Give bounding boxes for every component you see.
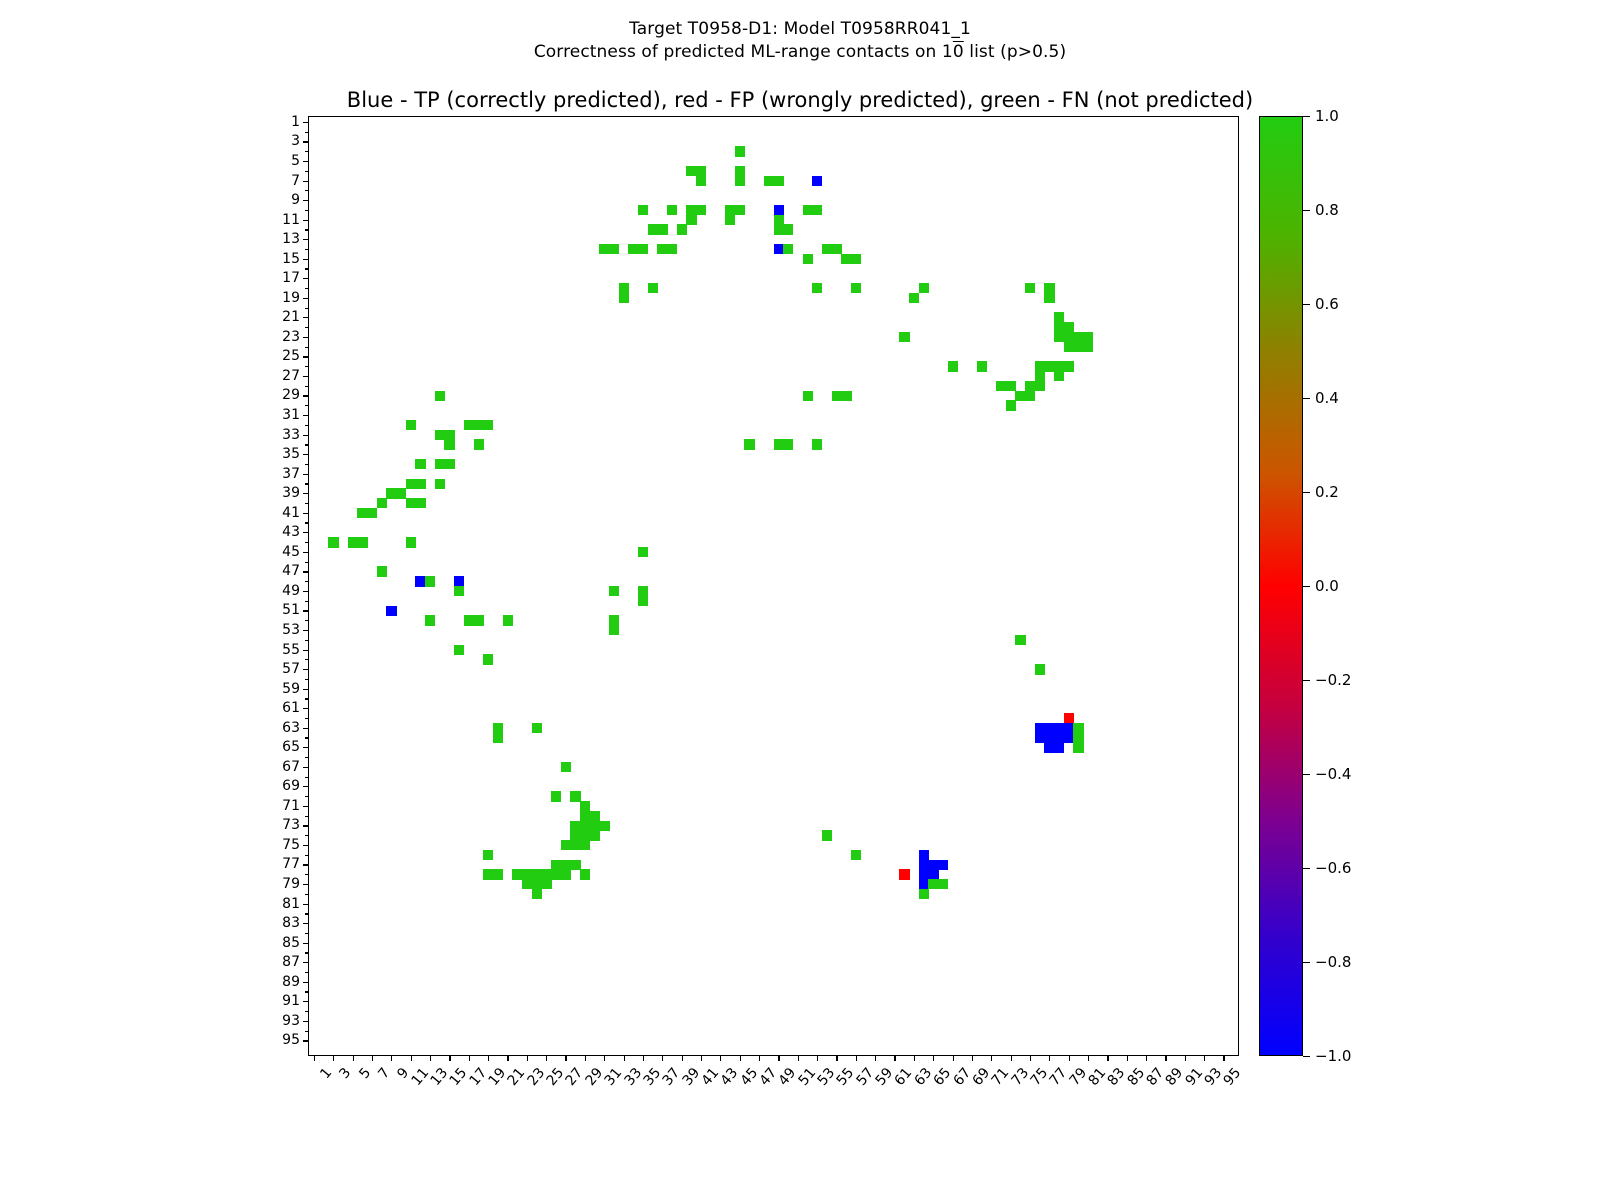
contact-cell — [919, 283, 929, 293]
figure-title-line-2-pre: Correctness of predicted ML-range contac… — [534, 42, 953, 62]
contact-map-cells — [309, 117, 1238, 1055]
y-axis-tick-label: 35 — [282, 446, 300, 462]
colorbar-tick — [1303, 492, 1310, 493]
contact-cell — [386, 606, 396, 616]
y-axis-minor-tick — [305, 913, 309, 914]
y-axis-tick — [303, 708, 309, 709]
figure-title-line-2-post: list (p>0.5) — [964, 42, 1066, 62]
colorbar-tick — [1303, 1056, 1310, 1057]
x-axis-tick — [469, 1055, 470, 1061]
x-axis-tick — [1185, 1055, 1186, 1061]
x-axis-tick — [353, 1055, 354, 1061]
y-axis-tick — [303, 669, 309, 670]
y-axis-tick — [303, 474, 309, 475]
y-axis-minor-tick — [305, 601, 309, 602]
contact-cell — [435, 391, 445, 401]
x-axis-tick — [391, 1055, 392, 1061]
y-axis-tick-label: 25 — [282, 348, 300, 364]
contact-cell — [474, 615, 484, 625]
y-axis-minor-tick — [305, 562, 309, 563]
y-axis-tick — [303, 689, 309, 690]
contact-cell — [415, 498, 425, 508]
y-axis-tick-label: 73 — [282, 817, 300, 833]
y-axis-tick-label: 69 — [282, 778, 300, 794]
contact-cell — [1035, 381, 1045, 391]
x-axis-tick — [972, 1055, 973, 1061]
contact-cell — [1054, 371, 1064, 381]
y-axis-tick-label: 89 — [282, 974, 300, 990]
x-axis-tick-label: 95 — [1221, 1065, 1245, 1089]
y-axis-minor-tick — [305, 132, 309, 133]
x-axis-tick — [720, 1055, 721, 1061]
contact-cell — [415, 479, 425, 489]
contact-cell — [657, 224, 667, 234]
contact-cell — [696, 176, 706, 186]
y-axis-tick — [303, 337, 309, 338]
contact-cell — [415, 459, 425, 469]
y-axis-tick-label: 5 — [291, 153, 300, 169]
contact-cell — [454, 645, 464, 655]
colorbar-tick — [1303, 868, 1310, 869]
contact-cell — [735, 176, 745, 186]
contact-cell — [774, 176, 784, 186]
y-axis-tick-label: 21 — [282, 309, 300, 325]
contact-cell — [938, 879, 948, 889]
y-axis-tick-label: 11 — [282, 212, 300, 228]
contact-cell — [938, 860, 948, 870]
x-axis-tick — [991, 1055, 992, 1061]
y-axis-tick-label: 1 — [291, 114, 300, 130]
y-axis-minor-tick — [305, 640, 309, 641]
x-axis-tick — [778, 1055, 779, 1061]
x-axis-tick — [1223, 1055, 1224, 1061]
x-axis-tick — [894, 1055, 895, 1061]
colorbar-container: 1.00.80.60.40.20.0−0.2−0.4−0.6−0.8−1.0 — [1259, 116, 1303, 1056]
y-axis-tick — [303, 610, 309, 611]
y-axis-minor-tick — [305, 366, 309, 367]
contact-cell — [725, 215, 735, 225]
contact-cell — [406, 420, 416, 430]
y-axis-minor-tick — [305, 874, 309, 875]
contact-cell — [783, 224, 793, 234]
y-axis-tick — [303, 278, 309, 279]
contact-cell — [541, 879, 551, 889]
y-axis-tick-label: 49 — [282, 583, 300, 599]
x-axis-tick — [914, 1055, 915, 1061]
contact-cell — [735, 205, 745, 215]
x-axis-tick — [314, 1055, 315, 1061]
y-axis-minor-tick — [305, 483, 309, 484]
x-axis-tick — [740, 1055, 741, 1061]
contact-cell — [609, 586, 619, 596]
contact-cell — [677, 224, 687, 234]
contact-cell — [493, 869, 503, 879]
contact-cell — [744, 439, 754, 449]
y-axis-tick — [303, 141, 309, 142]
contact-cell — [851, 850, 861, 860]
x-axis-tick — [1049, 1055, 1050, 1061]
x-axis-tick — [411, 1055, 412, 1061]
y-axis-minor-tick — [305, 991, 309, 992]
y-axis-minor-tick — [305, 151, 309, 152]
contact-cell — [909, 293, 919, 303]
contact-map-plot: 1357911131517192123252729313335373941434… — [308, 116, 1239, 1056]
y-axis-tick — [303, 806, 309, 807]
y-axis-minor-tick — [305, 229, 309, 230]
y-axis-tick — [303, 962, 309, 963]
contact-cell — [803, 254, 813, 264]
y-axis-tick-label: 43 — [282, 524, 300, 540]
y-axis-tick — [303, 298, 309, 299]
y-axis-minor-tick — [305, 894, 309, 895]
y-axis-tick — [303, 513, 309, 514]
contact-cell — [377, 566, 387, 576]
colorbar-tick — [1303, 116, 1310, 117]
contact-cell — [406, 537, 416, 547]
y-axis-tick-label: 95 — [282, 1032, 300, 1048]
contact-cell — [822, 830, 832, 840]
x-axis-tick — [430, 1055, 431, 1061]
y-axis-tick-label: 23 — [282, 329, 300, 345]
contact-cell — [812, 205, 822, 215]
y-axis-tick-label: 51 — [282, 602, 300, 618]
y-axis-tick — [303, 884, 309, 885]
y-axis-tick-label: 37 — [282, 466, 300, 482]
y-axis-minor-tick — [305, 757, 309, 758]
x-axis-tick — [585, 1055, 586, 1061]
y-axis-minor-tick — [305, 347, 309, 348]
y-axis-tick-label: 57 — [282, 661, 300, 677]
contact-cell — [1025, 283, 1035, 293]
x-axis-tick — [933, 1055, 934, 1061]
y-axis-minor-tick — [305, 952, 309, 953]
x-axis-tick — [1030, 1055, 1031, 1061]
figure-title-line-2-overline: 0 — [953, 42, 964, 62]
y-axis-tick — [303, 356, 309, 357]
x-axis-tick — [682, 1055, 683, 1061]
y-axis-minor-tick — [305, 796, 309, 797]
contact-cell — [367, 508, 377, 518]
y-axis-tick — [303, 864, 309, 865]
contact-cell — [444, 459, 454, 469]
contact-cell — [812, 439, 822, 449]
x-axis-tick — [1069, 1055, 1070, 1061]
y-axis-minor-tick — [305, 542, 309, 543]
contact-cell — [667, 205, 677, 215]
contact-cell — [899, 332, 909, 342]
colorbar-tick — [1303, 210, 1310, 211]
y-axis-minor-tick — [305, 327, 309, 328]
contact-cell — [590, 830, 600, 840]
y-axis-tick-label: 9 — [291, 192, 300, 208]
contact-cell — [561, 869, 571, 879]
contact-cell — [532, 889, 542, 899]
y-axis-tick — [303, 435, 309, 436]
y-axis-tick-label: 83 — [282, 915, 300, 931]
y-axis-tick-label: 75 — [282, 837, 300, 853]
y-axis-tick — [303, 161, 309, 162]
x-axis-tick — [817, 1055, 818, 1061]
y-axis-minor-tick — [305, 835, 309, 836]
y-axis-minor-tick — [305, 1011, 309, 1012]
y-axis-minor-tick — [305, 855, 309, 856]
y-axis-tick — [303, 415, 309, 416]
colorbar-tick-label: 0.2 — [1315, 483, 1339, 501]
x-axis-tick — [1107, 1055, 1108, 1061]
y-axis-tick-label: 7 — [291, 173, 300, 189]
x-axis-tick — [953, 1055, 954, 1061]
y-axis-tick — [303, 825, 309, 826]
y-axis-minor-tick — [305, 620, 309, 621]
y-axis-minor-tick — [305, 425, 309, 426]
contact-cell — [1006, 400, 1016, 410]
y-axis-tick — [303, 904, 309, 905]
contact-cell — [619, 293, 629, 303]
contact-cell — [919, 889, 929, 899]
y-axis-minor-tick — [305, 777, 309, 778]
contact-cell — [551, 791, 561, 801]
y-axis-tick — [303, 454, 309, 455]
y-axis-tick-label: 79 — [282, 876, 300, 892]
colorbar-tick — [1303, 774, 1310, 775]
y-axis-tick — [303, 923, 309, 924]
y-axis-minor-tick — [305, 190, 309, 191]
y-axis-tick — [303, 591, 309, 592]
y-axis-tick — [303, 845, 309, 846]
y-axis-minor-tick — [305, 933, 309, 934]
y-axis-tick — [303, 650, 309, 651]
contact-cell — [783, 439, 793, 449]
y-axis-tick-label: 29 — [282, 387, 300, 403]
contact-cell — [580, 869, 590, 879]
x-axis-tick — [546, 1055, 547, 1061]
contact-cell — [357, 537, 367, 547]
y-axis-tick-label: 33 — [282, 427, 300, 443]
colorbar-tick-label: −0.8 — [1315, 953, 1351, 971]
y-axis-minor-tick — [305, 679, 309, 680]
y-axis-tick — [303, 122, 309, 123]
x-axis-tick-label: 3 — [336, 1065, 354, 1082]
contact-cell — [1083, 342, 1093, 352]
y-axis-minor-tick — [305, 268, 309, 269]
figure-title-line-2: Correctness of predicted ML-range contac… — [0, 41, 1600, 64]
x-axis-tick — [507, 1055, 508, 1061]
x-axis-tick — [662, 1055, 663, 1061]
x-axis-tick — [1088, 1055, 1089, 1061]
x-axis-tick — [624, 1055, 625, 1061]
x-axis-tick — [856, 1055, 857, 1061]
x-axis-tick — [798, 1055, 799, 1061]
contact-cell — [532, 723, 542, 733]
contact-cell — [667, 244, 677, 254]
colorbar-tick-label: −1.0 — [1315, 1047, 1351, 1065]
x-axis-tick-label: 1 — [317, 1065, 335, 1082]
contact-cell — [977, 361, 987, 371]
contact-cell — [1035, 664, 1045, 674]
x-axis-tick-label: 5 — [356, 1065, 374, 1082]
y-axis-minor-tick — [305, 308, 309, 309]
y-axis-tick — [303, 532, 309, 533]
y-axis-tick-label: 91 — [282, 993, 300, 1009]
y-axis-minor-tick — [305, 816, 309, 817]
y-axis-tick — [303, 1001, 309, 1002]
y-axis-tick-label: 59 — [282, 681, 300, 697]
x-axis-tick — [1127, 1055, 1128, 1061]
x-axis-tick — [836, 1055, 837, 1061]
y-axis-tick — [303, 181, 309, 182]
y-axis-minor-tick — [305, 522, 309, 523]
x-axis-tick-label: 7 — [375, 1065, 393, 1082]
y-axis-tick-label: 15 — [282, 251, 300, 267]
y-axis-tick-label: 71 — [282, 798, 300, 814]
y-axis-minor-tick — [305, 698, 309, 699]
contact-cell — [425, 576, 435, 586]
contact-cell — [841, 391, 851, 401]
y-axis-minor-tick — [305, 444, 309, 445]
x-axis-tick — [1165, 1055, 1166, 1061]
colorbar-tick-label: −0.6 — [1315, 859, 1351, 877]
y-axis-tick-label: 93 — [282, 1013, 300, 1029]
contact-cell — [1044, 293, 1054, 303]
y-axis-minor-tick — [305, 288, 309, 289]
colorbar-tick-label: −0.4 — [1315, 765, 1351, 783]
contact-cell — [899, 869, 909, 879]
contact-cell — [851, 254, 861, 264]
colorbar-tick-label: 0.6 — [1315, 295, 1339, 313]
x-axis-tick — [333, 1055, 334, 1061]
contact-cell — [851, 283, 861, 293]
legend-subtitle: Blue - TP (correctly predicted), red - F… — [0, 88, 1600, 112]
y-axis-minor-tick — [305, 171, 309, 172]
colorbar-tick — [1303, 304, 1310, 305]
y-axis-minor-tick — [305, 386, 309, 387]
contact-cell — [474, 439, 484, 449]
y-axis-minor-tick — [305, 737, 309, 738]
contact-cell — [493, 733, 503, 743]
y-axis-tick-label: 41 — [282, 505, 300, 521]
y-axis-tick-label: 53 — [282, 622, 300, 638]
figure-title-block: Target T0958-D1: Model T0958RR041_1 Corr… — [0, 18, 1600, 64]
contact-cell — [328, 537, 338, 547]
y-axis-tick-label: 27 — [282, 368, 300, 384]
x-axis-tick — [1204, 1055, 1205, 1061]
y-axis-tick-label: 81 — [282, 896, 300, 912]
colorbar-tick-label: 0.4 — [1315, 389, 1339, 407]
y-axis-tick-label: 65 — [282, 739, 300, 755]
contact-cell — [483, 420, 493, 430]
contact-cell — [483, 654, 493, 664]
x-axis-tick — [488, 1055, 489, 1061]
y-axis-minor-tick — [305, 503, 309, 504]
colorbar-tick — [1303, 398, 1310, 399]
x-axis-tick — [449, 1055, 450, 1061]
y-axis-tick-label: 31 — [282, 407, 300, 423]
y-axis-tick-label: 47 — [282, 563, 300, 579]
y-axis-tick — [303, 395, 309, 396]
y-axis-tick — [303, 239, 309, 240]
y-axis-tick — [303, 259, 309, 260]
colorbar-tick-label: 0.0 — [1315, 577, 1339, 595]
contact-cell — [638, 596, 648, 606]
contact-cell — [638, 547, 648, 557]
colorbar-tick-label: −0.2 — [1315, 671, 1351, 689]
contact-cell — [648, 283, 658, 293]
x-axis-tick — [1011, 1055, 1012, 1061]
y-axis-minor-tick — [305, 1031, 309, 1032]
y-axis-tick — [303, 571, 309, 572]
contact-cell — [1073, 742, 1083, 752]
y-axis-tick — [303, 1040, 309, 1041]
y-axis-tick — [303, 728, 309, 729]
y-axis-minor-tick — [305, 405, 309, 406]
y-axis-tick-label: 87 — [282, 954, 300, 970]
y-axis-tick — [303, 982, 309, 983]
x-axis-tick — [701, 1055, 702, 1061]
contact-cell — [696, 205, 706, 215]
contact-cell — [435, 479, 445, 489]
contact-cell — [686, 215, 696, 225]
y-axis-tick — [303, 1021, 309, 1022]
colorbar-tick-label: 1.0 — [1315, 107, 1339, 125]
y-axis-tick-label: 63 — [282, 720, 300, 736]
x-axis-tick — [372, 1055, 373, 1061]
x-axis-tick — [759, 1055, 760, 1061]
y-axis-tick-label: 85 — [282, 935, 300, 951]
contact-cell — [638, 244, 648, 254]
y-axis-tick-label: 3 — [291, 133, 300, 149]
y-axis-tick — [303, 747, 309, 748]
y-axis-tick-label: 39 — [282, 485, 300, 501]
y-axis-tick — [303, 767, 309, 768]
y-axis-tick — [303, 552, 309, 553]
colorbar-tick-label: 0.8 — [1315, 201, 1339, 219]
y-axis-tick-label: 19 — [282, 290, 300, 306]
y-axis-minor-tick — [305, 659, 309, 660]
y-axis-tick-label: 61 — [282, 700, 300, 716]
colorbar-gradient — [1259, 116, 1303, 1056]
y-axis-tick-label: 55 — [282, 642, 300, 658]
y-axis-tick — [303, 630, 309, 631]
contact-cell — [483, 850, 493, 860]
y-axis-tick-label: 45 — [282, 544, 300, 560]
x-axis-tick — [875, 1055, 876, 1061]
contact-cell — [735, 146, 745, 156]
y-axis-tick-label: 17 — [282, 270, 300, 286]
contact-cell — [1025, 391, 1035, 401]
y-axis-tick — [303, 943, 309, 944]
contact-cell — [580, 840, 590, 850]
contact-cell — [1054, 742, 1064, 752]
contact-cell — [638, 205, 648, 215]
y-axis-minor-tick — [305, 464, 309, 465]
y-axis-minor-tick — [305, 581, 309, 582]
figure-title-line-1: Target T0958-D1: Model T0958RR041_1 — [0, 18, 1600, 41]
contact-cell — [812, 176, 822, 186]
colorbar-tick — [1303, 680, 1310, 681]
x-axis-tick — [643, 1055, 644, 1061]
contact-cell — [377, 498, 387, 508]
y-axis-tick — [303, 220, 309, 221]
y-axis-tick — [303, 317, 309, 318]
y-axis-tick-label: 13 — [282, 231, 300, 247]
y-axis-minor-tick — [305, 249, 309, 250]
x-axis-tick — [565, 1055, 566, 1061]
colorbar-tick — [1303, 586, 1310, 587]
x-axis-tick — [604, 1055, 605, 1061]
y-axis-tick — [303, 376, 309, 377]
contact-cell — [1015, 635, 1025, 645]
x-axis-tick — [1146, 1055, 1147, 1061]
